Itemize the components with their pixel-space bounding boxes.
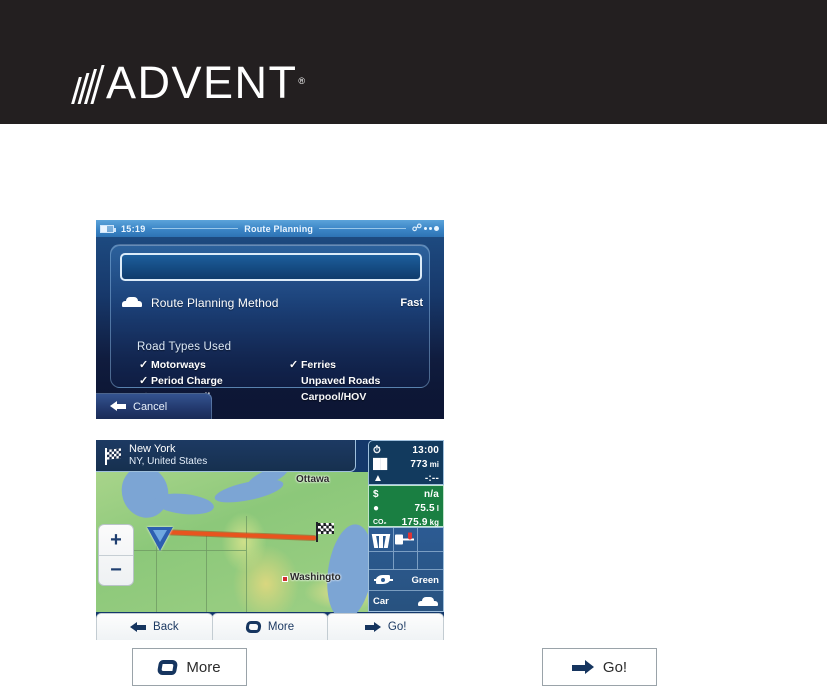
title-rule-left xyxy=(152,228,239,229)
road-types-section-title: Road Types Used xyxy=(137,341,231,353)
warning-icon: ▲ xyxy=(373,473,388,484)
route-method-value: Green xyxy=(412,575,439,586)
road-type-label: Unpaved Roads xyxy=(301,375,380,387)
back-button-label: Back xyxy=(153,621,179,633)
fuel-drop-icon: ● xyxy=(373,503,388,514)
logo-slashes-icon xyxy=(75,62,103,104)
status-bar: 15:19 Route Planning ☍ xyxy=(96,220,444,237)
checkered-flag-marker-icon xyxy=(316,522,335,542)
logo-wordmark-text: ADVENT xyxy=(106,57,298,108)
co2-icon: CO₂ xyxy=(373,519,388,526)
check-icon: ✓ xyxy=(139,376,151,387)
road-type-ferries[interactable]: ✓ Ferries xyxy=(289,358,439,372)
arrow-right-icon xyxy=(365,622,381,633)
more-icon xyxy=(245,621,262,633)
go-button-label: Go! xyxy=(388,621,407,633)
cost-icon: $ xyxy=(373,489,388,500)
eco-cost-row: $ n/a xyxy=(373,487,439,501)
road-type-period-charge[interactable]: ✓ Period Charge xyxy=(139,374,289,388)
state-border xyxy=(126,550,246,551)
map-label-ottawa: Ottawa xyxy=(296,474,329,485)
callout-go-label: Go! xyxy=(603,659,627,676)
vehicle-marker-icon xyxy=(147,527,173,551)
fuel-unit: l xyxy=(437,504,439,513)
advent-logo: ADVENT ® xyxy=(75,62,298,104)
route-planning-screenshot: 15:19 Route Planning ☍ Route Planning Me… xyxy=(96,220,444,419)
car-icon xyxy=(121,296,143,310)
car-icon xyxy=(418,596,438,608)
battery-icon xyxy=(100,225,114,233)
eco-route-icon xyxy=(374,574,393,586)
zoom-out-button[interactable]: − xyxy=(99,556,133,586)
go-button[interactable]: Go! xyxy=(327,613,444,640)
destination-header[interactable]: New York NY, United States xyxy=(96,440,356,472)
road-type-unpaved-roads[interactable]: ✓ Unpaved Roads xyxy=(289,374,439,388)
cancel-button[interactable]: Cancel xyxy=(96,393,212,419)
callout-go-button[interactable]: Go! xyxy=(542,648,657,686)
registered-mark: ® xyxy=(298,60,306,102)
trip-info-warning: ▲ -:-- xyxy=(373,471,439,485)
co2-value: 175.9 xyxy=(402,517,428,528)
co2-unit: kg xyxy=(430,518,439,527)
motorway-icon xyxy=(372,532,390,548)
trip-summary-panel: ⏱ 13:00 ██ 773 mi ▲ -:-- $ n/a ● 75.5 l xyxy=(368,440,444,612)
eco-fuel-row: ● 75.5 l xyxy=(373,501,439,515)
more-button-label: More xyxy=(268,621,294,633)
clock-icon: ⏱ xyxy=(373,445,388,456)
state-border xyxy=(206,532,207,612)
attribute-motorway[interactable] xyxy=(369,528,394,552)
route-preview-screenshot: Ottawa Washingto + − New York NY, United… xyxy=(96,440,444,640)
state-border xyxy=(246,516,247,612)
road-type-label: Period Charge xyxy=(151,375,223,387)
destination-name: New York xyxy=(129,443,207,456)
warning-value: -:-- xyxy=(425,473,439,484)
road-type-motorways[interactable]: ✓ Motorways xyxy=(139,358,289,372)
distance-icon: ██ xyxy=(373,459,388,470)
route-method-row[interactable]: Green xyxy=(369,570,443,591)
route-polyline xyxy=(158,530,316,540)
route-settings-panel: Route Planning Method Fast Road Types Us… xyxy=(110,244,430,388)
route-planning-method-label: Route Planning Method xyxy=(151,296,279,310)
distance-unit: mi xyxy=(430,460,439,469)
distance-value: 773 xyxy=(410,459,427,470)
brand-header-band: ADVENT ® xyxy=(0,0,827,124)
arrival-time-value: 13:00 xyxy=(412,445,439,456)
zoom-controls[interactable]: + − xyxy=(98,524,134,586)
vehicle-label: Car xyxy=(373,596,389,607)
callout-more-label: More xyxy=(186,659,220,676)
more-button[interactable]: More xyxy=(212,613,329,640)
screen-title: Route Planning xyxy=(244,224,313,234)
logo-wordmark: ADVENT ® xyxy=(106,62,298,104)
toll-gate-icon xyxy=(395,532,415,547)
callout-more-button[interactable]: More xyxy=(132,648,247,686)
trip-info-arrival: ⏱ 13:00 xyxy=(373,443,439,457)
zoom-in-button[interactable]: + xyxy=(99,525,133,556)
road-type-label: Motorways xyxy=(151,359,206,371)
eco-info-block[interactable]: $ n/a ● 75.5 l CO₂ 175.9 kg xyxy=(368,485,444,527)
route-planning-method-row[interactable]: Route Planning Method Fast xyxy=(121,292,423,314)
checkered-flag-icon xyxy=(104,447,122,465)
map-bottom-bar: Back More Go! xyxy=(96,613,444,640)
lake-erie xyxy=(153,491,215,517)
route-planning-bottom-bar: Cancel xyxy=(96,393,444,419)
search-input[interactable] xyxy=(120,253,422,281)
vehicle-row[interactable]: Car xyxy=(369,591,443,612)
cancel-button-label: Cancel xyxy=(133,401,167,413)
more-icon xyxy=(157,660,179,675)
route-planning-method-value: Fast xyxy=(400,297,423,309)
attribute-empty-2[interactable] xyxy=(369,552,394,570)
cost-value: n/a xyxy=(424,489,439,500)
map-label-washington: Washingto xyxy=(290,572,341,583)
back-button[interactable]: Back xyxy=(96,613,213,640)
trip-info-block[interactable]: ⏱ 13:00 ██ 773 mi ▲ -:-- xyxy=(368,440,444,485)
arrow-left-icon xyxy=(110,401,126,412)
road-type-label: Ferries xyxy=(301,359,336,371)
city-dot-washington xyxy=(282,576,288,582)
status-time: 15:19 xyxy=(121,224,146,234)
trip-info-distance: ██ 773 mi xyxy=(373,457,439,471)
satellite-icon: ☍ xyxy=(412,224,439,234)
attribute-empty-1[interactable] xyxy=(418,528,443,552)
attribute-empty-3[interactable] xyxy=(394,552,419,570)
map-canvas[interactable]: Ottawa Washingto + − xyxy=(96,472,368,612)
attribute-empty-4[interactable] xyxy=(418,552,443,570)
check-icon: ✓ xyxy=(289,360,301,371)
destination-subtitle: NY, United States xyxy=(129,456,207,468)
check-icon: ✓ xyxy=(139,360,151,371)
title-rule-right xyxy=(319,228,406,229)
fuel-value: 75.5 xyxy=(415,503,435,514)
arrow-left-icon xyxy=(130,622,146,633)
attribute-toll[interactable] xyxy=(394,528,419,552)
route-attributes-grid: Green Car xyxy=(368,527,444,612)
arrow-right-icon xyxy=(572,660,594,675)
